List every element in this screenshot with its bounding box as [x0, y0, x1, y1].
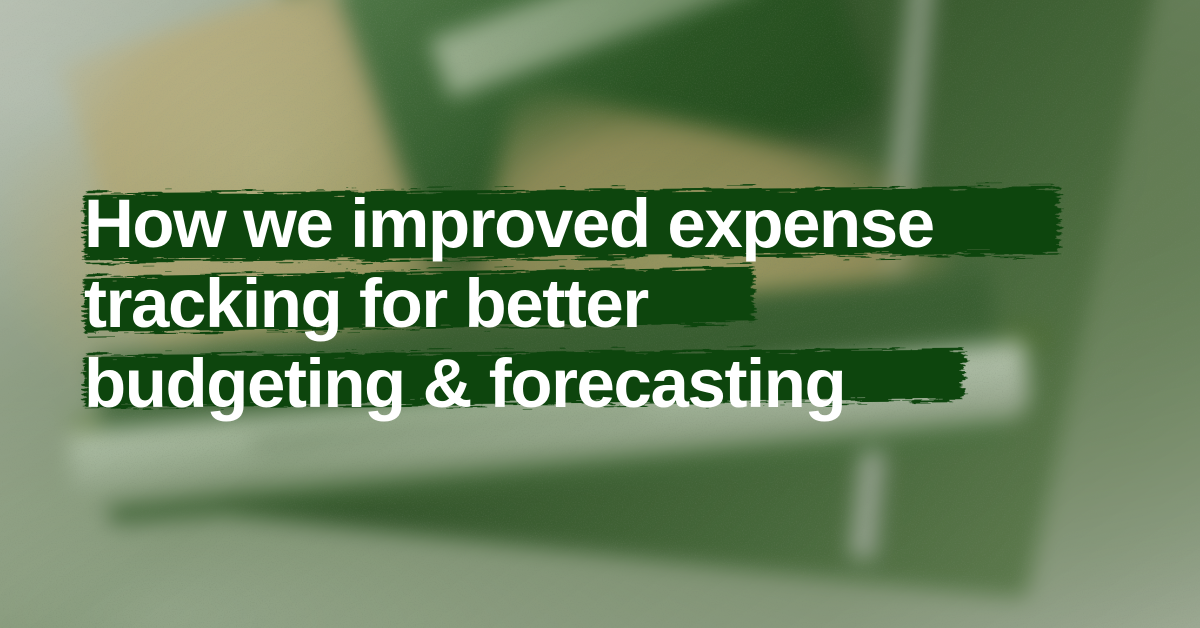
headline: How we improved expense tracking for bet… — [84, 184, 1144, 422]
headline-line-2-text: tracking for better — [84, 269, 648, 338]
headline-line-3: budgeting & forecasting — [84, 344, 1144, 422]
headline-line-2: tracking for better — [84, 264, 1144, 342]
headline-line-1-text: How we improved expense — [84, 189, 934, 258]
headline-line-1: How we improved expense — [84, 184, 1144, 262]
hero-banner: How we improved expense tracking for bet… — [0, 0, 1200, 628]
headline-line-3-text: budgeting & forecasting — [84, 349, 845, 418]
